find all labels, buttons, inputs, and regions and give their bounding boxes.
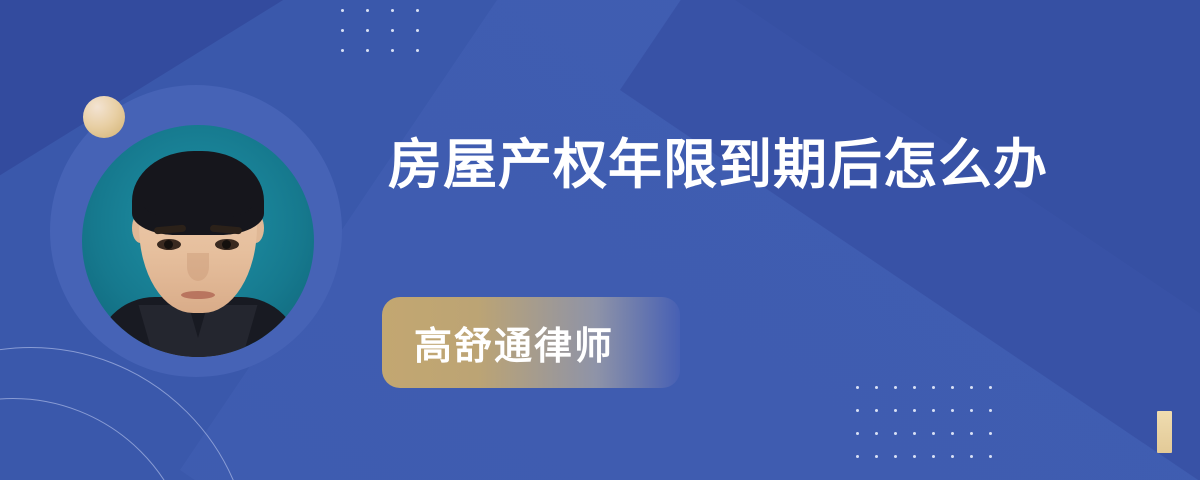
presenter-name-badge: 高舒通律师 [382,297,680,388]
gold-circle-icon [83,96,125,138]
gold-bar-icon [1157,411,1172,453]
avatar-photo [82,125,314,357]
portrait-eye-right [215,239,239,250]
portrait-eye-left [157,239,181,250]
presenter-name-label: 高舒通律师 [414,315,614,370]
dot-grid-icon-top [341,9,441,69]
video-cover-banner: 房屋产权年限到期后怎么办 高舒通律师 [0,0,1200,480]
portrait-hair [132,151,264,235]
page-title: 房屋产权年限到期后怎么办 [388,128,1088,202]
dot-grid-icon-bottom [856,386,1008,478]
avatar [45,80,355,390]
portrait-mouth [181,291,215,299]
portrait-nose [187,253,209,281]
